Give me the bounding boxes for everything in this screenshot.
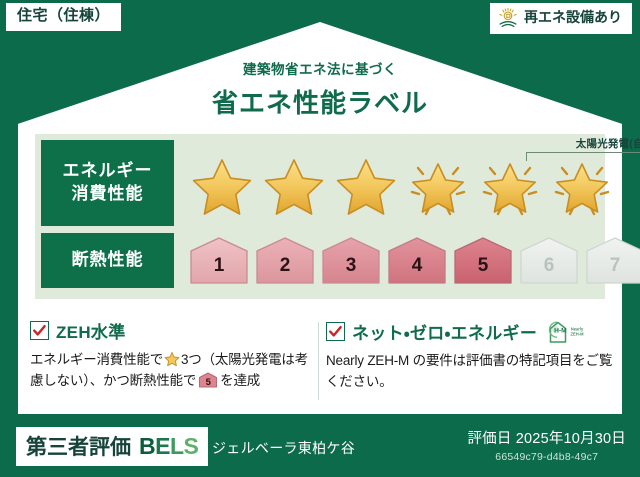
zeh-standard-note: ZEH水準 エネルギー消費性能で3つ（太陽光発電は考慮しない）、かつ断熱性能で5… [30,318,312,392]
insulation-level-badge-inactive: 6 [518,235,580,285]
net-zero-energy-heading: ネット・ゼロ・エネルギー H-M Nearly ZEH-M [326,318,614,344]
insulation-level-badge: 2 [254,235,316,285]
star-rating-group [188,154,616,220]
zeh-standard-title: ZEH水準 [56,318,126,343]
energy-performance-row: エネルギー 消費性能 太陽光発電(自家消費)分 [35,140,605,226]
zeh-body-part3: を達成 [220,373,260,388]
bels-prefix: 第三者評価 [26,431,131,461]
svg-text:ZEH-M: ZEH-M [571,331,585,336]
solar-generation-note: 太陽光発電(自家消費)分 [526,136,640,151]
energy-performance-label: エネルギー 消費性能 [41,140,174,226]
renewable-equipment-chip: 再エネ設備あり [490,3,632,34]
net-zero-energy-title: ネット・ゼロ・エネルギー [352,319,537,344]
rating-panel: エネルギー 消費性能 太陽光発電(自家消費)分 [35,134,605,299]
zeh-body-part1: エネルギー消費性能で [30,352,163,367]
evaluation-date-value: 2025年10月30日 [516,431,626,447]
note-divider [318,322,319,400]
title-block: 建築物省エネ法に基づく 省エネ性能ラベル [0,58,640,120]
star-sparkle-icon [548,154,616,220]
star-icon [332,154,400,220]
insulation-level-value: 1 [188,255,250,277]
bels-letter-s: S [184,433,199,459]
net-zero-energy-body: Nearly ZEH-M の要件は評価書の特記項目をご覧ください。 [326,351,614,393]
evaluation-date: 評価日 2025年10月30日 [467,427,626,448]
insulation-level-value: 2 [254,255,316,277]
bels-letter-l: L [170,433,184,459]
insulation-level-badge: 5 [452,235,514,285]
insulation-level-badge: 1 [188,235,250,285]
star-sparkle-icon [476,154,544,220]
solar-sun-icon [497,7,519,29]
insulation-level-badge: 4 [386,235,448,285]
footer: 第三者評価 BELS ジェルベーラ東柏ケ谷 評価日 2025年10月30日 66… [0,414,640,477]
star-icon [164,351,180,367]
insulation-level-group: 1 2 3 4 5 [188,235,640,285]
bels-certification-chip: 第三者評価 BELS [16,427,208,466]
bels-logo: BELS [139,433,198,460]
star-icon [260,154,328,220]
insulation-level-badge-inline: 5 [198,372,218,388]
insulation-level-value: 7 [584,255,640,277]
star-icon [188,154,256,220]
insulation-performance-row: 断熱性能 1 [35,233,605,293]
check-icon [326,322,345,341]
category-chip: 住宅（住棟） [6,3,121,31]
insulation-level-badge: 3 [320,235,382,285]
svg-text:H-M: H-M [554,328,567,335]
page-title: 省エネ性能ラベル [0,83,640,120]
energy-stars-body: 太陽光発電(自家消費)分 [174,140,605,226]
star-sparkle-icon [404,154,472,220]
check-icon [30,321,49,340]
insulation-level-value: 3 [320,255,382,277]
renewable-chip-label: 再エネ設備あり [524,10,622,25]
label-subtitle: 建築物省エネ法に基づく [0,58,640,78]
insulation-level-value: 6 [518,255,580,277]
evaluation-date-label: 評価日 [467,431,511,447]
zeh-standard-heading: ZEH水準 [30,318,312,343]
nearly-zeh-m-house-logo: H-M Nearly ZEH-M [546,318,586,344]
evaluation-info: 評価日 2025年10月30日 66549c79-d4b8-49c7 [467,427,626,463]
evaluation-id: 66549c79-d4b8-49c7 [467,451,626,463]
insulation-level-badge-inactive: 7 [584,235,640,285]
bels-letter-e: E [155,433,170,459]
insulation-level-value: 4 [386,255,448,277]
insulation-badges-body: 1 2 3 4 5 [174,233,605,293]
insulation-level-value: 5 [452,255,514,277]
insulation-level-value: 5 [198,376,218,391]
net-zero-energy-note: ネット・ゼロ・エネルギー H-M Nearly ZEH-M Nearly ZEH… [326,318,614,393]
energy-performance-label: 住宅（住棟） 再エネ設備あり 建築物省エ [0,0,640,477]
insulation-performance-label: 断熱性能 [41,233,174,288]
bels-letter-b: B [139,433,155,459]
zeh-standard-body: エネルギー消費性能で3つ（太陽光発電は考慮しない）、かつ断熱性能で5を達成 [30,350,312,392]
building-name: ジェルベーラ東柏ケ谷 [212,438,355,458]
